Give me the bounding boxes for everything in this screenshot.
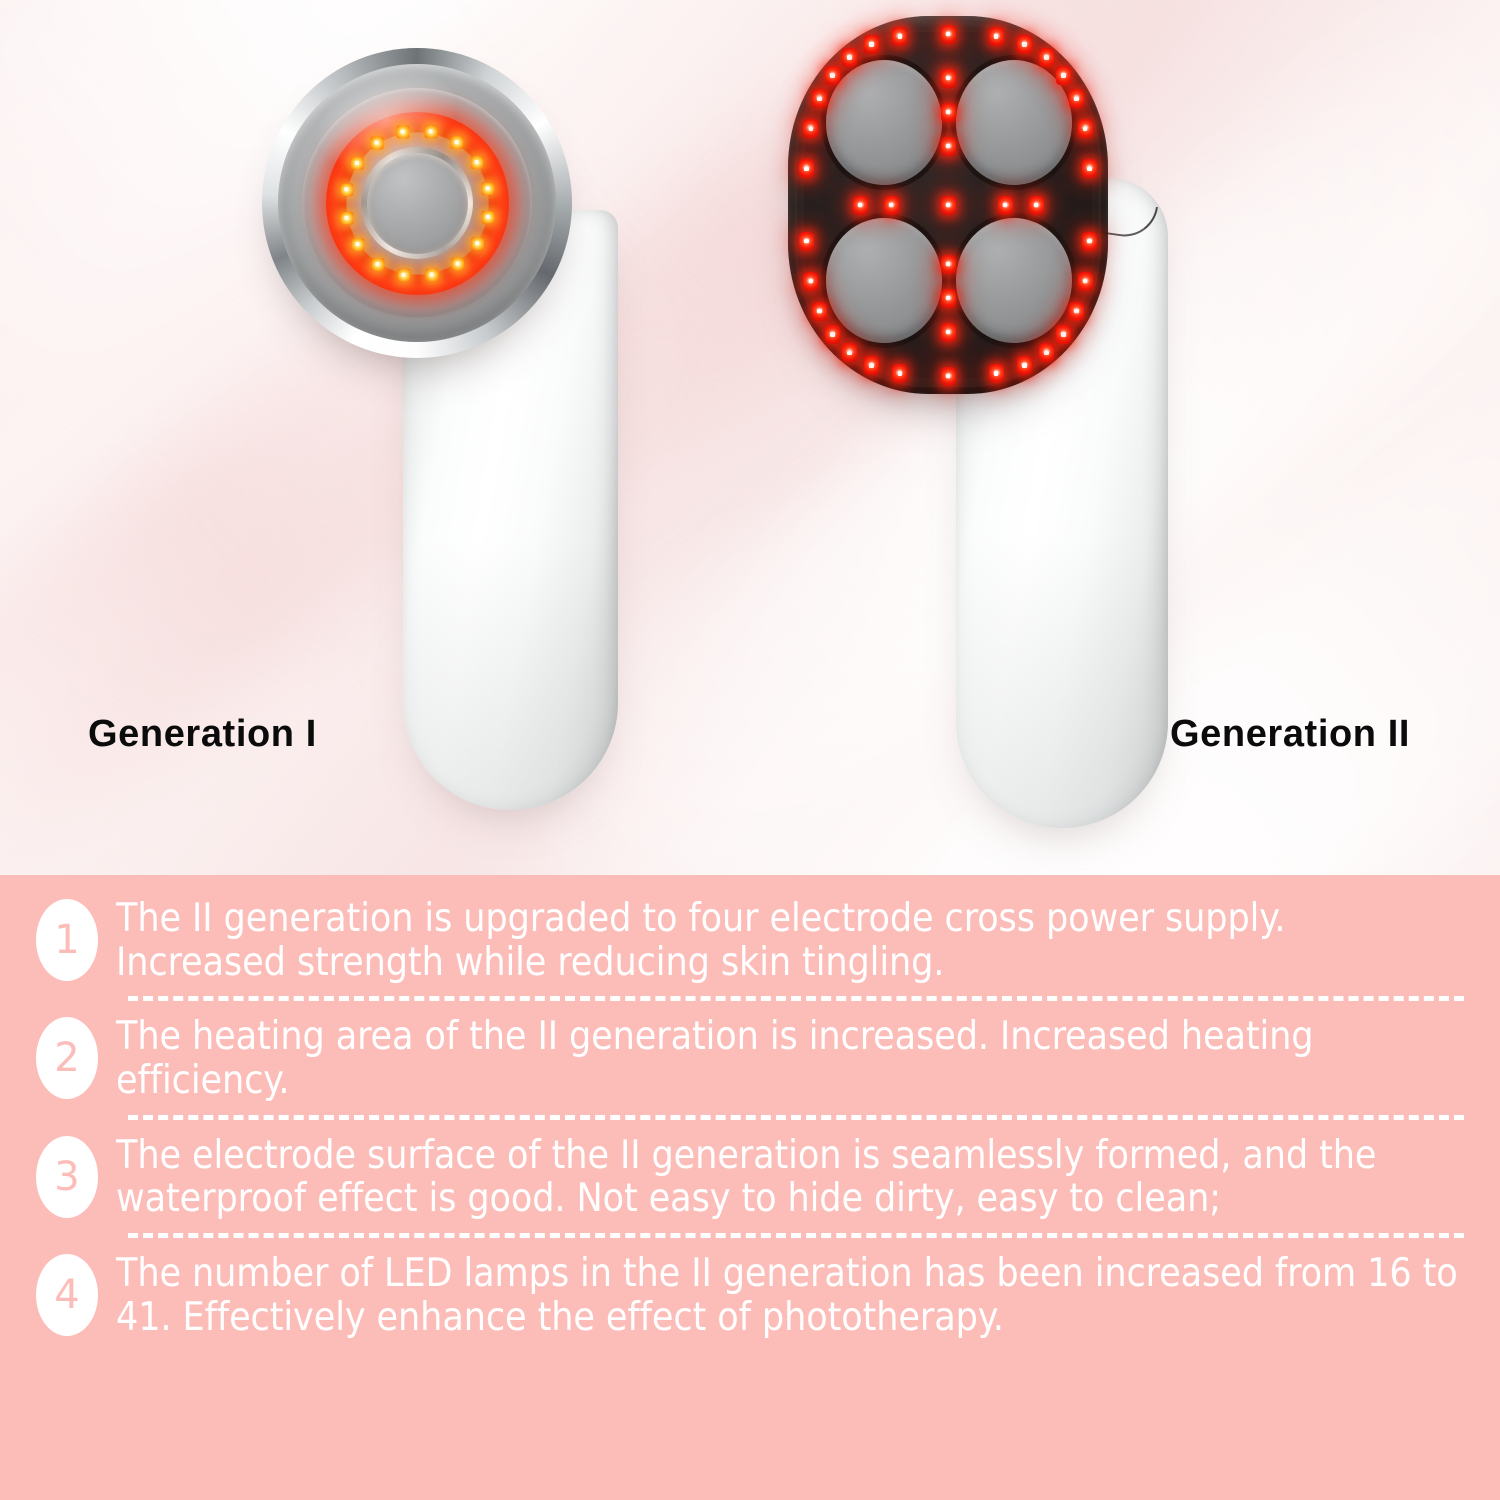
gen2-led (941, 25, 956, 44)
gen1-led (396, 125, 409, 138)
gen2-led (842, 48, 857, 67)
gen2-led (1039, 48, 1054, 67)
gen2-led (1078, 119, 1093, 138)
gen2-electrode-top-right (956, 60, 1072, 185)
gen2-led (853, 196, 868, 215)
feature-panel: 1 The II generation is upgraded to four … (0, 875, 1500, 1500)
gen2-led (941, 137, 956, 156)
gen2-led (864, 35, 879, 54)
gen2-electrode-bottom-left (826, 218, 942, 343)
gen1-led (371, 257, 384, 270)
gen2-led (941, 69, 956, 88)
feature-item: 3 The electrode surface of the II genera… (0, 1132, 1500, 1221)
gen2-led (1082, 232, 1097, 251)
gen2-led (941, 289, 956, 308)
gen2-treatment-head (788, 16, 1108, 394)
gen2-led (799, 232, 814, 251)
feature-badge: 2 (36, 1017, 98, 1099)
gen2-led (1069, 302, 1084, 321)
gen2-led (989, 364, 1004, 383)
gen2-led (941, 323, 956, 342)
feature-text: The number of LED lamps in the II genera… (116, 1250, 1466, 1339)
feature-divider (128, 996, 1464, 1001)
feature-item: 1 The II generation is upgraded to four … (0, 895, 1500, 984)
feature-text: The II generation is upgraded to four el… (116, 895, 1466, 984)
gen2-led (1078, 272, 1093, 291)
gen2-label: Generation II (1170, 713, 1410, 756)
gen2-led (1056, 325, 1071, 344)
gen1-led (340, 211, 353, 224)
gen1-led (397, 268, 410, 281)
feature-item: 4 The number of LED lamps in the II gene… (0, 1250, 1500, 1339)
gen2-led (892, 27, 907, 46)
gen1-led (425, 268, 438, 281)
gen1-led (350, 156, 363, 169)
gen2-led (803, 272, 818, 291)
gen2-led (941, 103, 956, 122)
gen1-led (424, 125, 437, 138)
gen2-led (1029, 196, 1044, 215)
gen1-label: Generation I (88, 713, 317, 756)
gen2-led (842, 343, 857, 362)
gen2-led (799, 159, 814, 178)
feature-badge: 1 (36, 899, 98, 981)
feature-badge: 4 (36, 1254, 98, 1336)
feature-divider (128, 1233, 1464, 1238)
gen2-led (998, 196, 1013, 215)
gen1-led (451, 257, 464, 270)
gen2-led (1069, 89, 1084, 108)
gen1-inner-electrode (367, 153, 468, 254)
gen1-led (370, 136, 383, 149)
gen2-led (825, 325, 840, 344)
feature-divider (128, 1115, 1464, 1120)
gen1-led (470, 156, 483, 169)
gen2-led (989, 27, 1004, 46)
feature-text: The heating area of the II generation is… (116, 1013, 1466, 1102)
gen2-led (1017, 35, 1032, 54)
gen1-led (481, 210, 494, 223)
gen2-led (941, 255, 956, 274)
gen2-led (864, 356, 879, 375)
gen2-led (812, 89, 827, 108)
feature-text: The electrode surface of the II generati… (116, 1132, 1466, 1221)
gen2-electrode-top-left (826, 60, 942, 185)
gen2-led (941, 196, 956, 215)
gen1-treatment-head (262, 48, 572, 358)
gen2-led (825, 66, 840, 85)
gen2-led (941, 367, 956, 386)
gen2-led (892, 364, 907, 383)
gen1-led (450, 136, 463, 149)
gen2-led (1056, 66, 1071, 85)
gen2-led (1039, 343, 1054, 362)
feature-badge: 3 (36, 1136, 98, 1218)
gen2-led (803, 119, 818, 138)
gen1-led (481, 182, 494, 195)
gen2-electrode-bottom-right (956, 218, 1072, 343)
gen1-led (351, 237, 364, 250)
gen2-led (1082, 159, 1097, 178)
gen1-led (340, 183, 353, 196)
gen2-led (1017, 356, 1032, 375)
product-comparison-page: Generation I Generation II 1 The II gene… (0, 0, 1500, 1500)
feature-item: 2 The heating area of the II generation … (0, 1013, 1500, 1102)
gen2-led (812, 302, 827, 321)
gen1-led (471, 237, 484, 250)
gen2-led (884, 196, 899, 215)
